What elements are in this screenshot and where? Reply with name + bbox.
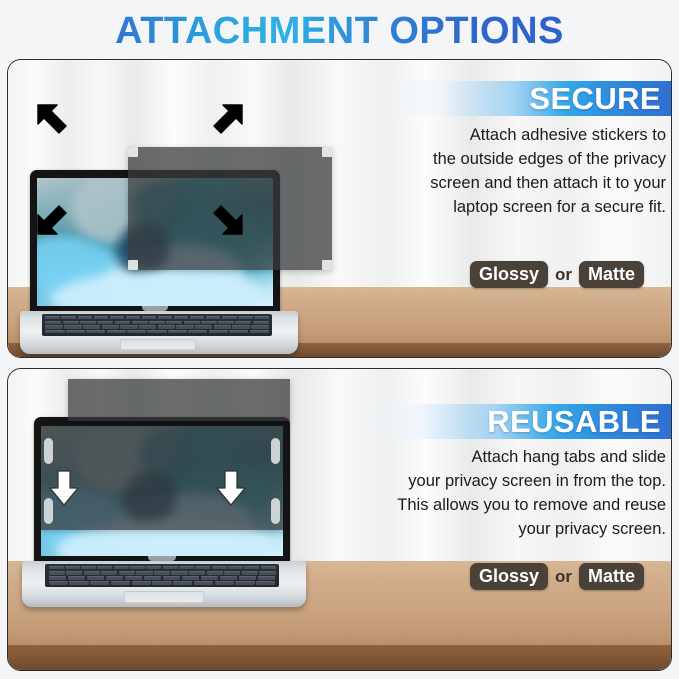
keyboard (45, 564, 279, 587)
arrow-diagonal-down-right-icon (211, 203, 245, 237)
finish-conjunction: or (555, 567, 572, 587)
arrow-diagonal-down-left-icon (35, 203, 69, 237)
heading-banner-reusable: REUSABLE (349, 404, 671, 439)
page-title: ATTACHMENT OPTIONS (0, 8, 679, 54)
corner-sticker (128, 147, 138, 157)
body-line: the outside edges of the privacy (336, 147, 666, 171)
panel-heading: REUSABLE (487, 404, 671, 440)
laptop-base (22, 561, 306, 607)
infographic-page: ATTACHMENT OPTIONS (0, 0, 679, 679)
arrow-down-icon (48, 469, 80, 507)
arrow-diagonal-up-right-icon (211, 102, 245, 136)
panel-secure: SECURE Attach adhesive stickers to the o… (7, 59, 672, 358)
hang-tab (271, 498, 280, 524)
desk-edge (8, 645, 671, 670)
panel-body-reusable: Attach hang tabs and slide your privacy … (326, 445, 666, 541)
laptop-base (20, 311, 298, 354)
corner-sticker (322, 147, 332, 157)
hang-tab (44, 438, 53, 464)
chip-matte[interactable]: Matte (579, 261, 644, 288)
body-line: Attach adhesive stickers to (336, 123, 666, 147)
body-line: Attach hang tabs and slide (326, 445, 666, 469)
trackpad (124, 591, 204, 603)
finish-options-secure: Glossy or Matte (470, 261, 644, 288)
privacy-screen-overhang (68, 379, 290, 421)
finish-conjunction: or (555, 265, 572, 285)
body-line: laptop screen for a secure fit. (336, 195, 666, 219)
panel-body-secure: Attach adhesive stickers to the outside … (336, 123, 666, 219)
keyboard (42, 314, 272, 336)
panel-reusable: REUSABLE Attach hang tabs and slide your… (7, 368, 672, 671)
body-line: your privacy screen. (326, 517, 666, 541)
chip-glossy[interactable]: Glossy (470, 563, 548, 590)
body-line: screen and then attach it to your (336, 171, 666, 195)
chip-glossy[interactable]: Glossy (470, 261, 548, 288)
chip-matte[interactable]: Matte (579, 563, 644, 590)
body-line: your privacy screen in from the top. (326, 469, 666, 493)
arrow-down-icon (215, 469, 247, 507)
corner-sticker (322, 260, 332, 270)
corner-sticker (128, 260, 138, 270)
trackpad (120, 339, 196, 350)
panel-heading: SECURE (529, 81, 671, 117)
finish-options-reusable: Glossy or Matte (470, 563, 644, 590)
arrow-diagonal-up-left-icon (35, 102, 69, 136)
heading-banner-secure: SECURE (379, 81, 671, 116)
hang-tab (271, 438, 280, 464)
body-line: This allows you to remove and reuse (326, 493, 666, 517)
